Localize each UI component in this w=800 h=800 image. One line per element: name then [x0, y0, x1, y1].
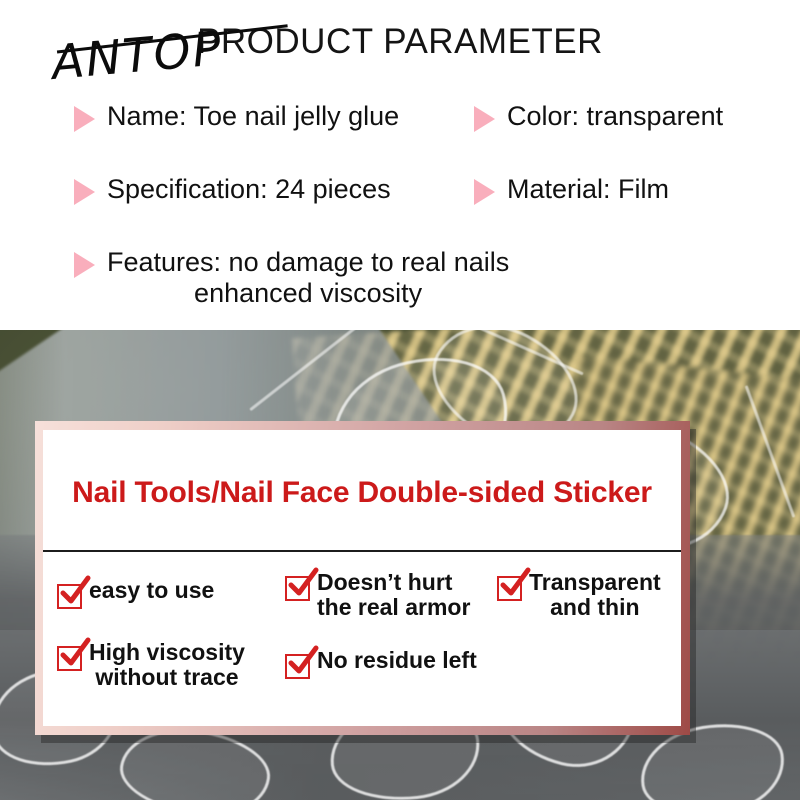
benefit-item: High viscosity without trace — [57, 640, 245, 689]
benefit-label: easy to use — [89, 578, 214, 603]
triangle-right-icon — [74, 106, 95, 132]
benefit-item: No residue left — [285, 648, 477, 679]
spec-row-features: Features: no damage to real nails enhanc… — [74, 247, 509, 309]
spec-row-name: Name: Toe nail jelly glue — [74, 101, 399, 132]
spec-label-specification: Specification: 24 pieces — [107, 174, 391, 205]
triangle-right-icon — [474, 179, 495, 205]
spec-label-material: Material: Film — [507, 174, 669, 205]
triangle-right-icon — [474, 106, 495, 132]
spec-row-material: Material: Film — [474, 174, 669, 205]
triangle-right-icon — [74, 252, 95, 278]
spec-row-color: Color: transparent — [474, 101, 723, 132]
triangle-right-icon — [74, 179, 95, 205]
spec-label-color: Color: transparent — [507, 101, 723, 132]
benefit-label: Transparent and thin — [529, 570, 661, 619]
feature-card: Nail Tools/Nail Face Double-sided Sticke… — [35, 421, 690, 735]
benefit-label: High viscosity without trace — [89, 640, 245, 689]
spec-label-name: Name: Toe nail jelly glue — [107, 101, 399, 132]
spec-label-features: Features: no damage to real nails enhanc… — [107, 247, 509, 309]
checkbox-checked-icon — [57, 584, 82, 609]
feature-card-divider — [43, 550, 681, 552]
benefit-label: No residue left — [317, 648, 477, 673]
checkbox-checked-icon — [285, 576, 310, 601]
benefit-item: easy to use — [57, 578, 214, 609]
checkbox-checked-icon — [285, 654, 310, 679]
benefit-label: Doesn’t hurt the real armor — [317, 570, 470, 619]
checkbox-checked-icon — [497, 576, 522, 601]
product-parameter-panel: PRODUCT PARAMETER ANTOP Name: Toe nail j… — [0, 0, 800, 330]
checkbox-checked-icon — [57, 646, 82, 671]
benefit-item: Transparent and thin — [497, 570, 661, 619]
feature-card-inner: Nail Tools/Nail Face Double-sided Sticke… — [43, 430, 681, 726]
feature-card-title: Nail Tools/Nail Face Double-sided Sticke… — [43, 476, 681, 510]
benefit-item: Doesn’t hurt the real armor — [285, 570, 470, 619]
spec-row-specification: Specification: 24 pieces — [74, 174, 391, 205]
